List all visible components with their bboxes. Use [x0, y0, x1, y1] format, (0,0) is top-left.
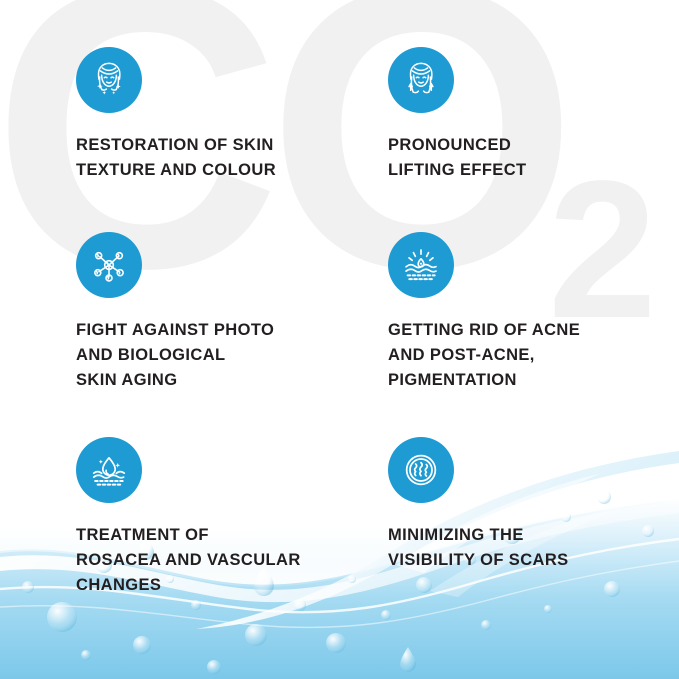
feature-item-scars[interactable]: MINIMIZING THE VISIBILITY OF SCARS [388, 437, 638, 573]
molecule-cell-icon [76, 232, 142, 298]
feature-label: MINIMIZING THE VISIBILITY OF SCARS [388, 523, 638, 573]
acne-skin-layers-icon [388, 232, 454, 298]
feature-label: GETTING RID OF ACNE AND POST-ACNE, PIGME… [388, 318, 638, 393]
infographic-canvas: CO 2 [0, 0, 679, 679]
feature-item-acne[interactable]: GETTING RID OF ACNE AND POST-ACNE, PIGME… [388, 232, 638, 393]
feature-item-rosacea[interactable]: TREATMENT OF ROSACEA AND VASCULAR CHANGE… [76, 437, 338, 598]
face-lifting-icon [388, 47, 454, 113]
feature-item-restoration[interactable]: RESTORATION OF SKIN TEXTURE AND COLOUR [76, 47, 338, 183]
feature-label: PRONOUNCED LIFTING EFFECT [388, 133, 638, 183]
feature-item-lifting[interactable]: PRONOUNCED LIFTING EFFECT [388, 47, 638, 183]
water-drop-skin-icon [76, 437, 142, 503]
face-sparkle-icon [76, 47, 142, 113]
feature-label: TREATMENT OF ROSACEA AND VASCULAR CHANGE… [76, 523, 338, 598]
feature-label: RESTORATION OF SKIN TEXTURE AND COLOUR [76, 133, 338, 183]
feature-grid: RESTORATION OF SKIN TEXTURE AND COLOUR [0, 0, 679, 679]
scar-tissue-circle-icon [388, 437, 454, 503]
feature-label: FIGHT AGAINST PHOTO AND BIOLOGICAL SKIN … [76, 318, 338, 393]
feature-item-aging[interactable]: FIGHT AGAINST PHOTO AND BIOLOGICAL SKIN … [76, 232, 338, 393]
